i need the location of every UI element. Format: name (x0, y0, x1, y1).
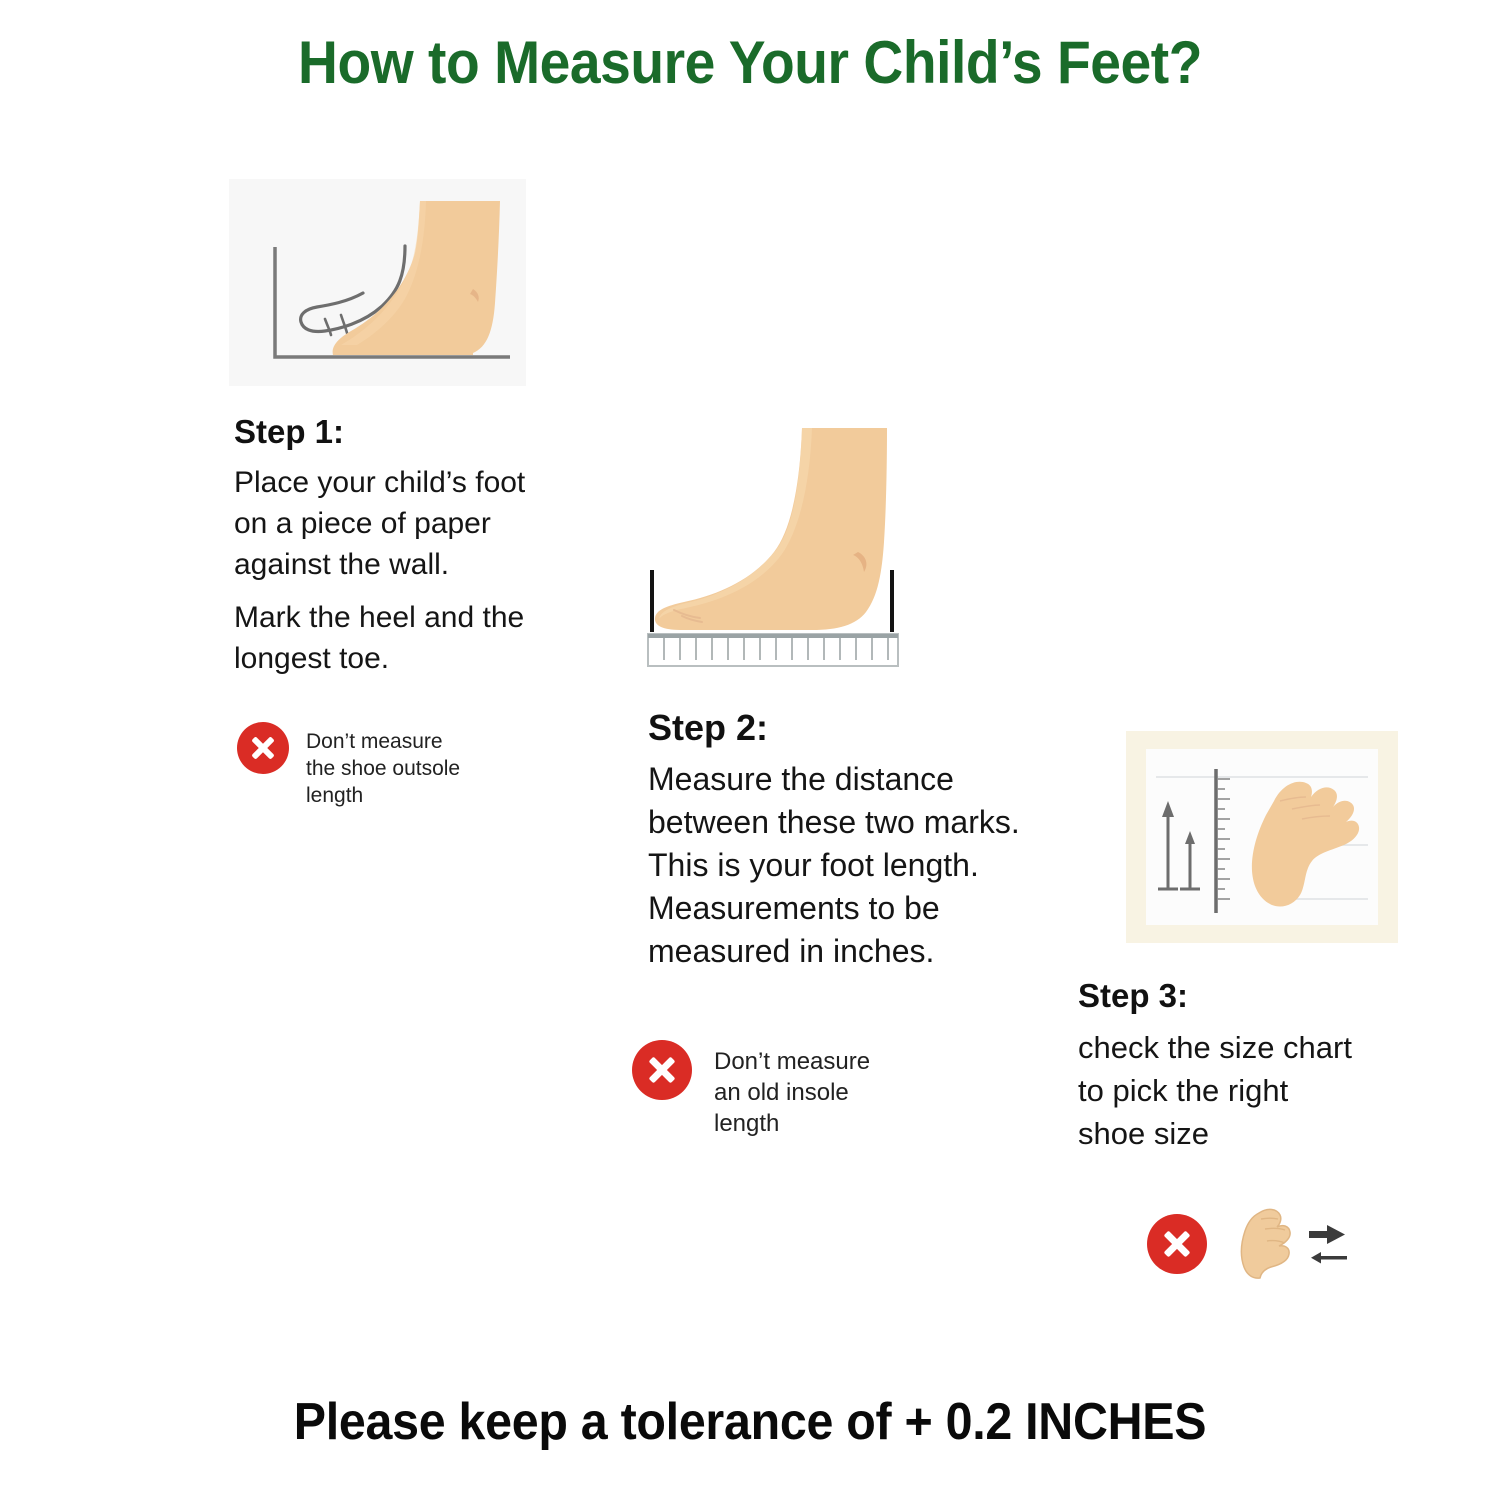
step-1-illustration-panel (229, 179, 526, 386)
step-2-body-line-5: measured in inches. (648, 930, 1078, 973)
step-2-warning-line-1: Don’t measure (714, 1046, 924, 1077)
step-1-body-line-3: against the wall. (234, 544, 564, 585)
arrow-up-long-icon (1158, 801, 1178, 889)
step-2-warning-line-3: length (714, 1108, 924, 1139)
red-x-circle-icon (632, 1040, 692, 1100)
vertical-ruler-ticks (1217, 779, 1230, 899)
red-x-circle-icon (1147, 1214, 1207, 1274)
arrow-left-icon (1311, 1252, 1347, 1264)
step-3-warning (1147, 1205, 1351, 1283)
foot-sole-icon (1235, 1205, 1297, 1283)
arrow-up-short-icon (1180, 831, 1200, 889)
step-1-warning-line-3: length (306, 782, 506, 809)
ruler (648, 634, 898, 666)
step-1-warning-text: Don’t measure the shoe outsole length (306, 728, 506, 809)
step-1-body-line-5: longest toe. (234, 638, 564, 679)
foot-sole-shape (1252, 782, 1359, 907)
step-2-body: Measure the distance between these two m… (648, 758, 1078, 973)
step-2-body-line-1: Measure the distance (648, 758, 1078, 801)
heel-measurement-mark (890, 570, 894, 632)
step-3-illustration-panel (1126, 731, 1398, 943)
step-3-heading: Step 3: (1078, 977, 1188, 1015)
arrow-right-icon (1309, 1225, 1345, 1244)
step-2-body-line-4: Measurements to be (648, 887, 1078, 930)
direction-arrows (1307, 1215, 1351, 1273)
tolerance-note: Please keep a tolerance of + 0.2 INCHES (53, 1392, 1448, 1452)
infographic-page: How to Measure Your Child’s Feet? Step 1… (0, 0, 1500, 1496)
page-title: How to Measure Your Child’s Feet? (60, 28, 1440, 97)
step-1-body: Place your child’s foot on a piece of pa… (234, 462, 564, 679)
step-2-illustration-panel (640, 420, 940, 670)
foot-side-view-against-wall-icon (229, 179, 526, 386)
step-3-illustration-inner (1146, 749, 1378, 925)
step-2-warning: Don’t measure an old insole length (632, 1040, 924, 1139)
step-1-heading: Step 1: (234, 413, 344, 451)
step-1-body-line-4: Mark the heel and the (234, 597, 564, 638)
foot-sole-on-measuring-paper-icon (1146, 749, 1378, 925)
step-1-body-line-1: Place your child’s foot (234, 462, 564, 503)
step-3-body: check the size chart to pick the right s… (1078, 1026, 1418, 1155)
step-2-body-line-3: This is your foot length. (648, 844, 1078, 887)
step-1-warning-line-1: Don’t measure (306, 728, 506, 755)
step-3-body-line-2: to pick the right (1078, 1069, 1418, 1112)
step-2-warning-text: Don’t measure an old insole length (714, 1046, 924, 1139)
step-1-warning-line-2: the shoe outsole (306, 755, 506, 782)
step-1-warning: Don’t measure the shoe outsole length (237, 722, 506, 809)
toe-measurement-mark (650, 570, 654, 632)
step-3-body-line-3: shoe size (1078, 1112, 1418, 1155)
step-2-warning-line-2: an old insole (714, 1077, 924, 1108)
step-1-body-line-2: on a piece of paper (234, 503, 564, 544)
step-2-body-line-2: between these two marks. (648, 801, 1078, 844)
red-x-circle-icon (237, 722, 289, 774)
step-2-heading: Step 2: (648, 707, 768, 749)
step-3-body-line-1: check the size chart (1078, 1026, 1418, 1069)
foot-over-ruler-icon (640, 420, 940, 670)
